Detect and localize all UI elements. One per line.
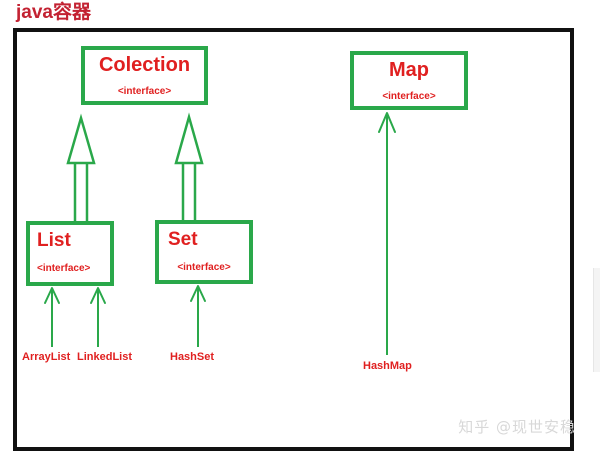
uml-class-stereotype: <interface> [382,91,435,102]
leaf-label-hashset: HashSet [170,352,214,363]
leaf-label-hashmap: HashMap [363,361,412,372]
uml-class-map[interactable]: Map <interface> [350,51,468,110]
page-title: java容器 [16,1,91,25]
uml-class-stereotype: <interface> [37,263,90,274]
uml-class-name: List [37,231,71,251]
uml-class-set[interactable]: Set <interface> [155,220,253,284]
uml-class-stereotype: <interface> [118,86,171,97]
uml-class-name: Colection [99,55,190,76]
leaf-label-linkedlist: LinkedList [77,352,132,363]
right-edge-sliver [593,268,600,372]
leaf-label-arraylist: ArrayList [22,352,70,363]
uml-class-name: Map [389,60,429,81]
uml-class-list[interactable]: List <interface> [26,221,114,286]
diagram-canvas: java容器 [0,0,600,459]
watermark: 知乎 @现世安稳 [458,416,576,437]
uml-class-name: Set [168,230,198,250]
uml-class-colection[interactable]: Colection <interface> [81,46,208,105]
uml-class-stereotype: <interface> [177,262,230,273]
